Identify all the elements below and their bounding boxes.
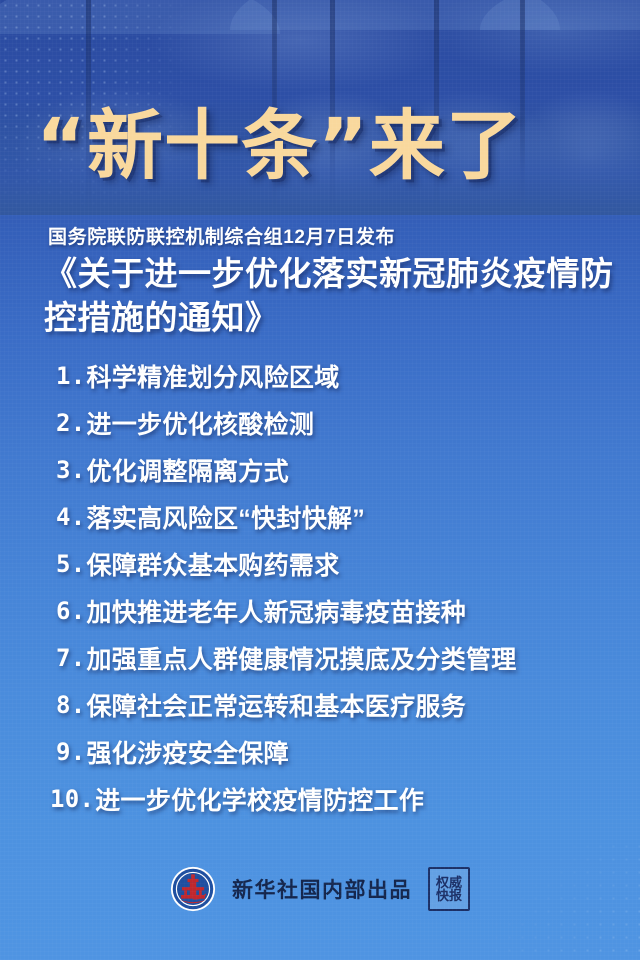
list-item-number: 5. [56, 550, 86, 578]
poster-canvas: “新十条”来了 国务院联防联控机制综合组12月7日发布 《关于进一步优化落实新冠… [0, 0, 640, 960]
list-item-label: 进一步优化核酸检测 [87, 405, 315, 441]
xinhua-agency-logo-icon [170, 866, 216, 912]
list-item: 8. 保障社会正常运转和基本医疗服务 [56, 681, 616, 728]
list-item-label: 保障社会正常运转和基本医疗服务 [87, 687, 467, 723]
list-item-number: 2. [56, 409, 86, 437]
tent-canopy-shape [480, 0, 640, 30]
authority-seal-badge: 权威 快报 [428, 867, 470, 911]
list-item-number: 7. [56, 644, 86, 672]
list-item-label: 科学精准划分风险区域 [87, 358, 340, 394]
list-item: 1. 科学精准划分风险区域 [56, 352, 616, 399]
list-item: 5. 保障群众基本购药需求 [56, 540, 616, 587]
issuer-and-date-line: 国务院联防联控机制综合组12月7日发布 [48, 222, 395, 249]
list-item-number: 9. [56, 738, 86, 766]
list-item-number: 10. [50, 785, 94, 813]
list-item: 6. 加快推进老年人新冠病毒疫苗接种 [56, 587, 616, 634]
list-item: 3. 优化调整隔离方式 [56, 446, 616, 493]
list-item: 9. 强化涉疫安全保障 [56, 728, 616, 775]
measures-list: 1. 科学精准划分风险区域 2. 进一步优化核酸检测 3. 优化调整隔离方式 4… [56, 352, 616, 822]
list-item-number: 6. [56, 597, 86, 625]
list-item-label: 进一步优化学校疫情防控工作 [95, 781, 424, 817]
list-item-label: 加快推进老年人新冠病毒疫苗接种 [87, 593, 467, 629]
list-item: 2. 进一步优化核酸检测 [56, 399, 616, 446]
list-item-number: 3. [56, 456, 86, 484]
list-item-label: 强化涉疫安全保障 [87, 734, 289, 770]
list-item-number: 1. [56, 362, 86, 390]
footer-credit-text: 新华社国内部出品 [232, 874, 412, 904]
list-item-label: 落实高风险区“快封快解” [87, 499, 366, 535]
seal-line-2: 快报 [436, 889, 462, 902]
list-item-label: 优化调整隔离方式 [87, 452, 289, 488]
list-item: 7. 加强重点人群健康情况摸底及分类管理 [56, 634, 616, 681]
footer: 新华社国内部出品 权威 快报 [0, 866, 640, 912]
list-item-label: 加强重点人群健康情况摸底及分类管理 [87, 640, 517, 676]
list-item: 10. 进一步优化学校疫情防控工作 [50, 775, 616, 822]
list-item-label: 保障群众基本购药需求 [87, 546, 340, 582]
document-title: 《关于进一步优化落实新冠肺炎疫情防控措施的通知》 [44, 252, 624, 339]
page-title: “新十条”来了 [36, 108, 616, 184]
list-item-number: 4. [56, 503, 86, 531]
list-item: 4. 落实高风险区“快封快解” [56, 493, 616, 540]
list-item-number: 8. [56, 691, 86, 719]
